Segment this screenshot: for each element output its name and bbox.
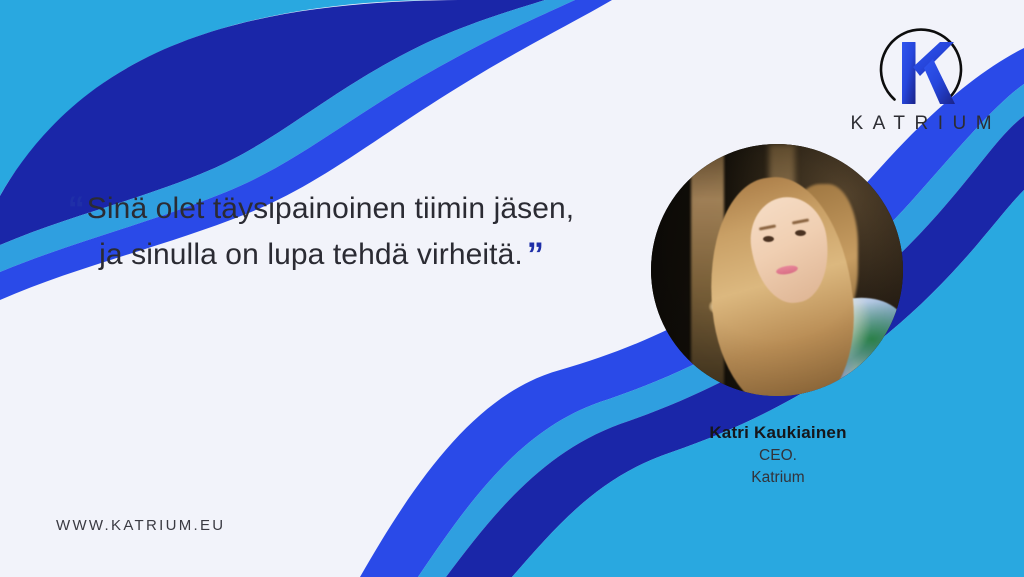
website-url: WWW.KATRIUM.EU	[56, 517, 225, 534]
attribution-company: Katrium	[645, 467, 911, 489]
brand-logo: KATRIUM	[828, 16, 1014, 135]
quote-block: “Sinä olet täysipainoinen tiimin jäsen, …	[56, 186, 586, 278]
quote-close-mark: ”	[527, 236, 543, 274]
portrait-vignette	[651, 144, 903, 396]
logo-k-mark-icon	[828, 16, 1014, 112]
quote-line-1: Sinä olet täysipainoinen tiimin	[87, 192, 485, 225]
portrait-photo	[651, 144, 903, 396]
attribution-role: CEO.	[645, 445, 911, 467]
top-wave-light-blue-band	[0, 0, 430, 196]
quote-open-mark: “	[68, 190, 84, 228]
quote-slide: KATRIUM “Sinä olet täysipainoinen tiimin…	[0, 0, 1024, 577]
attribution-name: Katri Kaukiainen	[645, 422, 911, 445]
attribution-block: Katri Kaukiainen CEO. Katrium	[645, 422, 911, 488]
quote-line-3: virheitä.	[417, 238, 523, 271]
logo-wordmark: KATRIUM	[828, 113, 1014, 135]
logo-letter-k	[902, 42, 955, 104]
portrait-container	[651, 144, 903, 396]
quote-text: “Sinä olet täysipainoinen tiimin jäsen, …	[56, 186, 586, 278]
